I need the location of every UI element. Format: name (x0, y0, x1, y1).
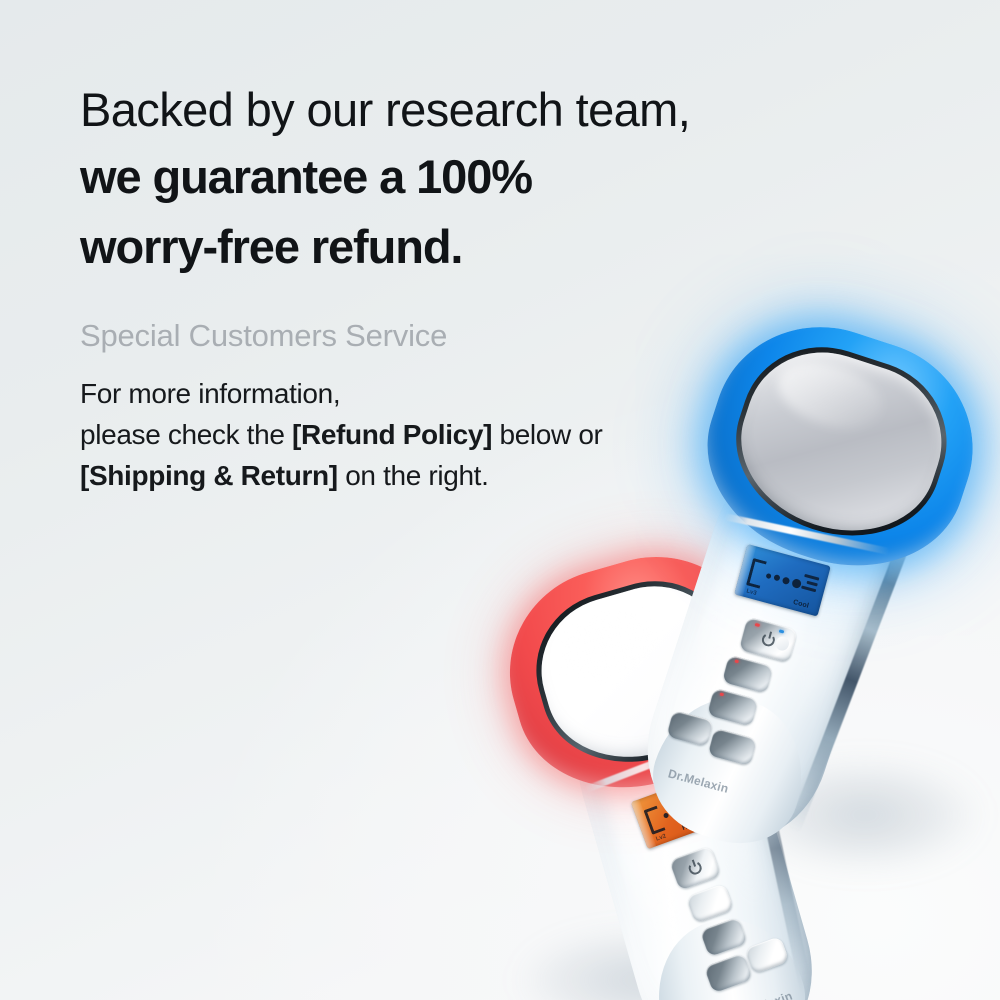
power-icon (687, 860, 704, 877)
headline-line-1: Backed by our research team, (80, 78, 900, 142)
body-line-2-prefix: please check the (80, 419, 292, 450)
led-indicator-red (755, 623, 761, 627)
promo-banner: Backed by our research team, we guarante… (0, 0, 1000, 1000)
led-indicator-red (719, 692, 724, 696)
headline-line-3: worry-free refund. (80, 212, 900, 282)
blue-device-lcd-mode-label: Cool (792, 599, 809, 610)
red-device-lcd-level-label: Lv2 (655, 833, 667, 842)
body-line-3-suffix: on the right. (338, 460, 489, 491)
headline-line-2: we guarantee a 100% (80, 142, 900, 212)
blue-device-lcd-signal-bars (801, 573, 819, 591)
shipping-return-link[interactable]: [Shipping & Return] (80, 460, 338, 491)
blue-device-lcd-level-label: Lv3 (746, 588, 758, 596)
blue-device-lcd-level-dots (765, 571, 802, 589)
refund-policy-link[interactable]: [Refund Policy] (292, 419, 492, 450)
power-button-highlight (774, 635, 790, 652)
led-indicator-red (734, 659, 739, 663)
power-icon (760, 632, 776, 648)
body-line-2-suffix: below or (492, 419, 602, 450)
led-indicator-blue (779, 629, 785, 633)
